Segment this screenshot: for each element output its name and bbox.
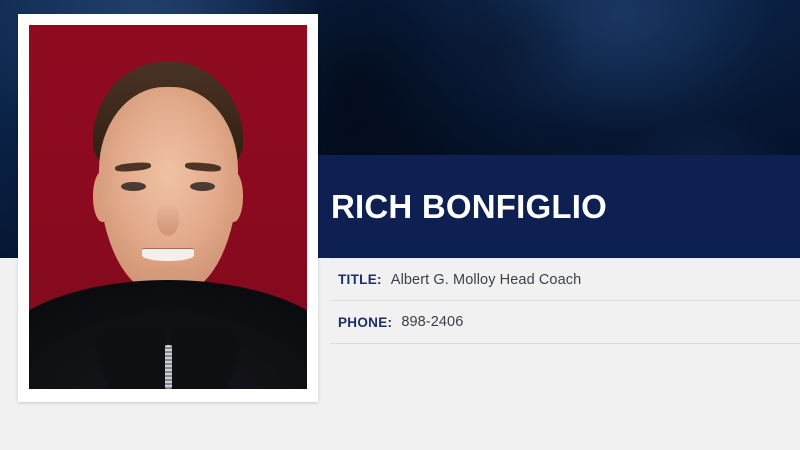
portrait-eye-right [190, 182, 215, 191]
detail-label-phone: PHONE: [338, 315, 392, 330]
staff-profile-page: RICH BONFIGLIO TITLE: Albert G. Molloy H… [0, 0, 800, 450]
headshot-card [18, 14, 318, 402]
portrait-zipper [165, 345, 172, 389]
page-title: RICH BONFIGLIO [331, 190, 607, 223]
detail-value-title: Albert G. Molloy Head Coach [391, 272, 581, 288]
detail-row-title: TITLE: Albert G. Molloy Head Coach [330, 258, 800, 301]
portrait-mouth [142, 249, 195, 261]
portrait-nose [157, 203, 179, 236]
detail-label-title: TITLE: [338, 272, 382, 287]
profile-details-list: TITLE: Albert G. Molloy Head Coach PHONE… [330, 258, 800, 344]
name-banner: RICH BONFIGLIO [318, 155, 800, 258]
portrait-eye-left [121, 182, 146, 191]
headshot-photo [29, 25, 307, 389]
portrait-face [99, 87, 238, 294]
detail-value-phone[interactable]: 898-2406 [401, 314, 463, 330]
detail-row-phone: PHONE: 898-2406 [330, 301, 800, 344]
